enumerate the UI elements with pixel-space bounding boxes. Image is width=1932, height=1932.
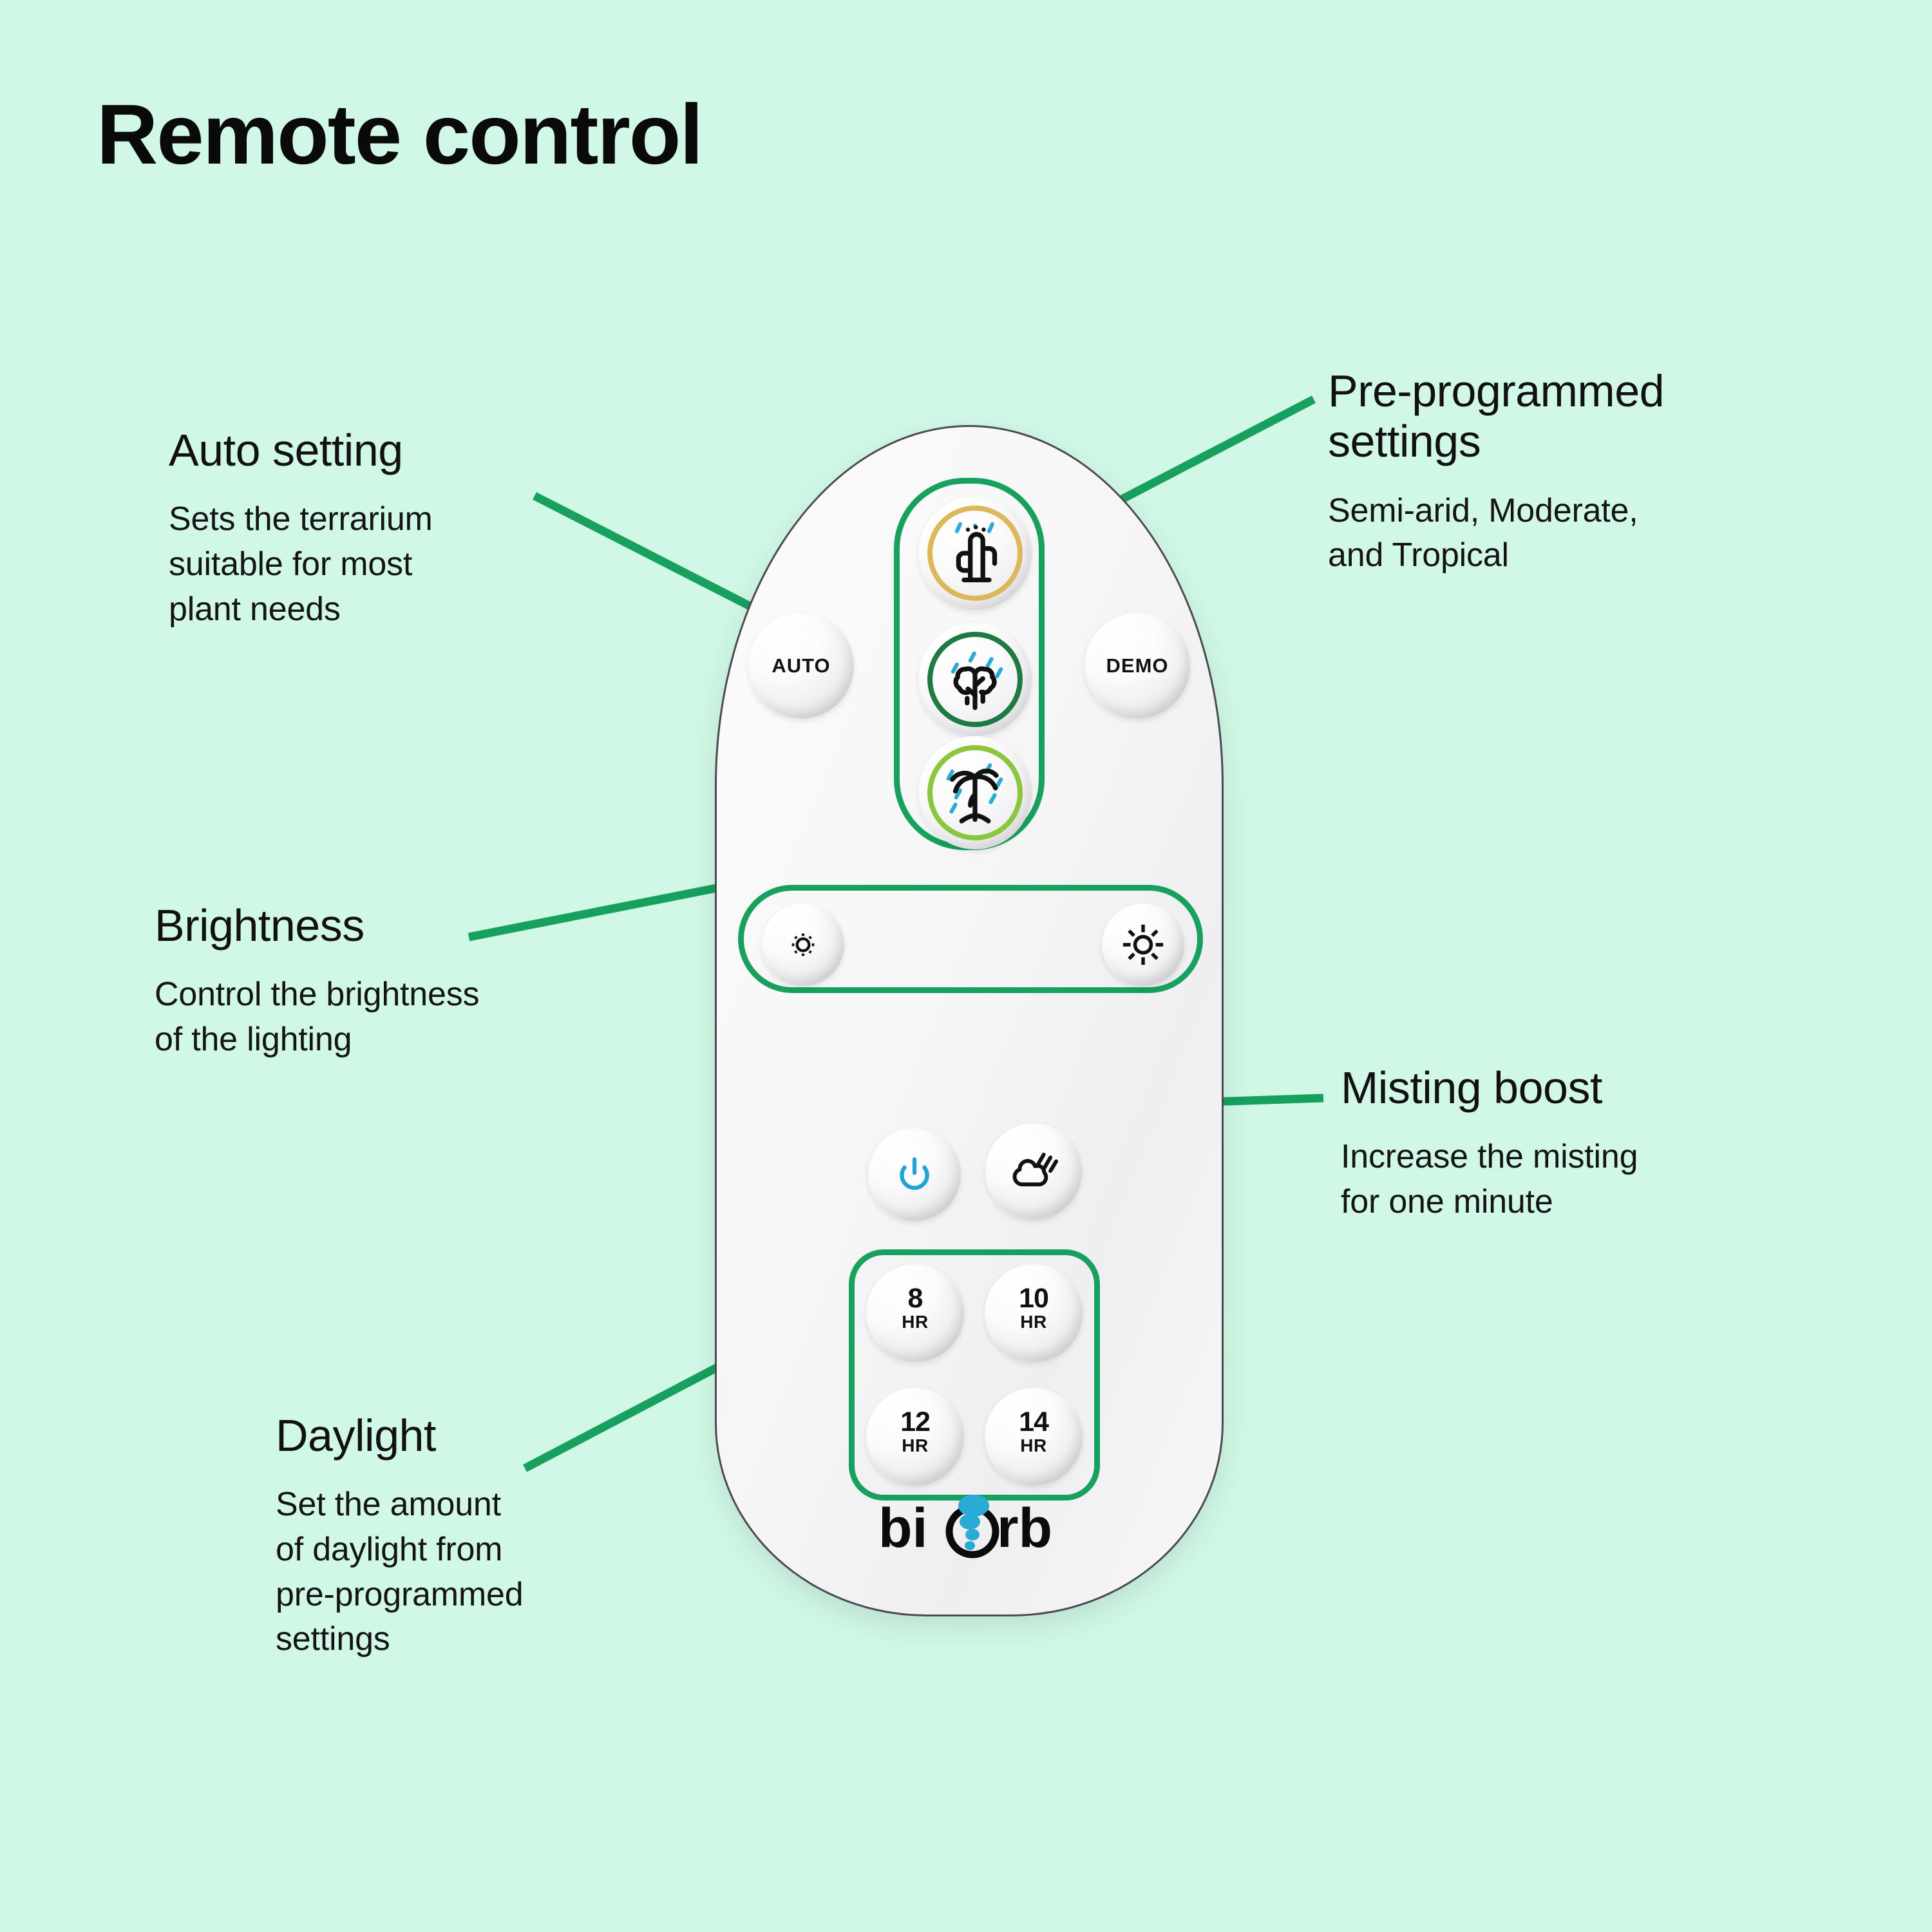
cactus-icon — [936, 514, 1014, 592]
callout-daylight-body: Set the amount of daylight from pre-prog… — [276, 1482, 688, 1662]
callout-misting-heading: Misting boost — [1341, 1063, 1804, 1113]
preset-moderate-button[interactable] — [918, 623, 1032, 736]
power-icon — [892, 1152, 937, 1197]
daylight-10hr-unit: HR — [1020, 1312, 1046, 1332]
biorb-bubbles-icon — [958, 1495, 989, 1550]
tree-icon — [936, 640, 1014, 719]
callout-misting-body: Increase the misting for one minute — [1341, 1135, 1804, 1224]
callout-presets-heading: Pre-programmed settings — [1328, 366, 1817, 467]
sun-large-icon — [1118, 920, 1168, 970]
callout-pre-programmed-settings: Pre-programmed settings Semi-arid, Moder… — [1328, 366, 1817, 578]
biorb-logo-mark: bi rb — [876, 1492, 1063, 1562]
daylight-14hr-unit: HR — [1020, 1435, 1046, 1456]
auto-button-label: AUTO — [772, 654, 830, 677]
preset-semi-arid-button[interactable] — [918, 497, 1032, 610]
daylight-8hr-unit: HR — [902, 1312, 928, 1332]
mist-cloud-icon — [1007, 1148, 1060, 1195]
remote-control-device: AUTO DEMO — [715, 425, 1224, 1616]
daylight-10hr-value: 10 — [1019, 1285, 1048, 1312]
callout-auto-setting: Auto setting Sets the terrarium suitable… — [169, 425, 581, 632]
preset-group-highlight — [894, 478, 1045, 850]
biorb-logo: bi rb — [715, 1492, 1224, 1562]
callout-presets-body: Semi-arid, Moderate, and Tropical — [1328, 489, 1817, 578]
palm-tree-icon — [936, 753, 1014, 832]
infographic-stage: Remote control Auto setting Sets the ter… — [0, 0, 1932, 1932]
daylight-12hr-value: 12 — [900, 1409, 930, 1435]
callout-daylight: Daylight Set the amount of daylight from… — [276, 1410, 688, 1662]
callout-misting-boost: Misting boost Increase the misting for o… — [1341, 1063, 1804, 1225]
biorb-logo-text-right: rb — [997, 1497, 1052, 1559]
daylight-group-highlight: 8 HR 10 HR 12 HR 14 HR — [849, 1249, 1100, 1501]
demo-button[interactable]: DEMO — [1084, 613, 1190, 719]
daylight-12hr-unit: HR — [902, 1435, 928, 1456]
misting-boost-button[interactable] — [985, 1123, 1082, 1220]
callout-brightness-heading: Brightness — [155, 900, 554, 951]
callout-brightness: Brightness Control the brightness of the… — [155, 900, 554, 1063]
auto-button[interactable]: AUTO — [748, 613, 854, 719]
biorb-logo-text-left: bi — [878, 1497, 927, 1559]
daylight-8hr-button[interactable]: 8 HR — [866, 1264, 964, 1362]
daylight-10hr-button[interactable]: 10 HR — [985, 1264, 1083, 1362]
brightness-bright-button[interactable] — [1102, 904, 1184, 986]
daylight-14hr-button[interactable]: 14 HR — [985, 1388, 1083, 1486]
sun-small-icon — [783, 925, 823, 965]
callout-brightness-body: Control the brightness of the lighting — [155, 972, 554, 1062]
daylight-8hr-value: 8 — [908, 1285, 923, 1312]
brightness-dim-button[interactable] — [762, 904, 844, 986]
callout-auto-body: Sets the terrarium suitable for most pla… — [169, 497, 581, 632]
daylight-12hr-button[interactable]: 12 HR — [866, 1388, 964, 1486]
brightness-group-highlight — [738, 885, 1203, 993]
daylight-14hr-value: 14 — [1019, 1409, 1048, 1435]
power-button[interactable] — [868, 1128, 961, 1221]
preset-tropical-button[interactable] — [918, 736, 1032, 849]
callout-auto-heading: Auto setting — [169, 425, 581, 475]
callout-daylight-heading: Daylight — [276, 1410, 688, 1461]
demo-button-label: DEMO — [1106, 654, 1169, 677]
